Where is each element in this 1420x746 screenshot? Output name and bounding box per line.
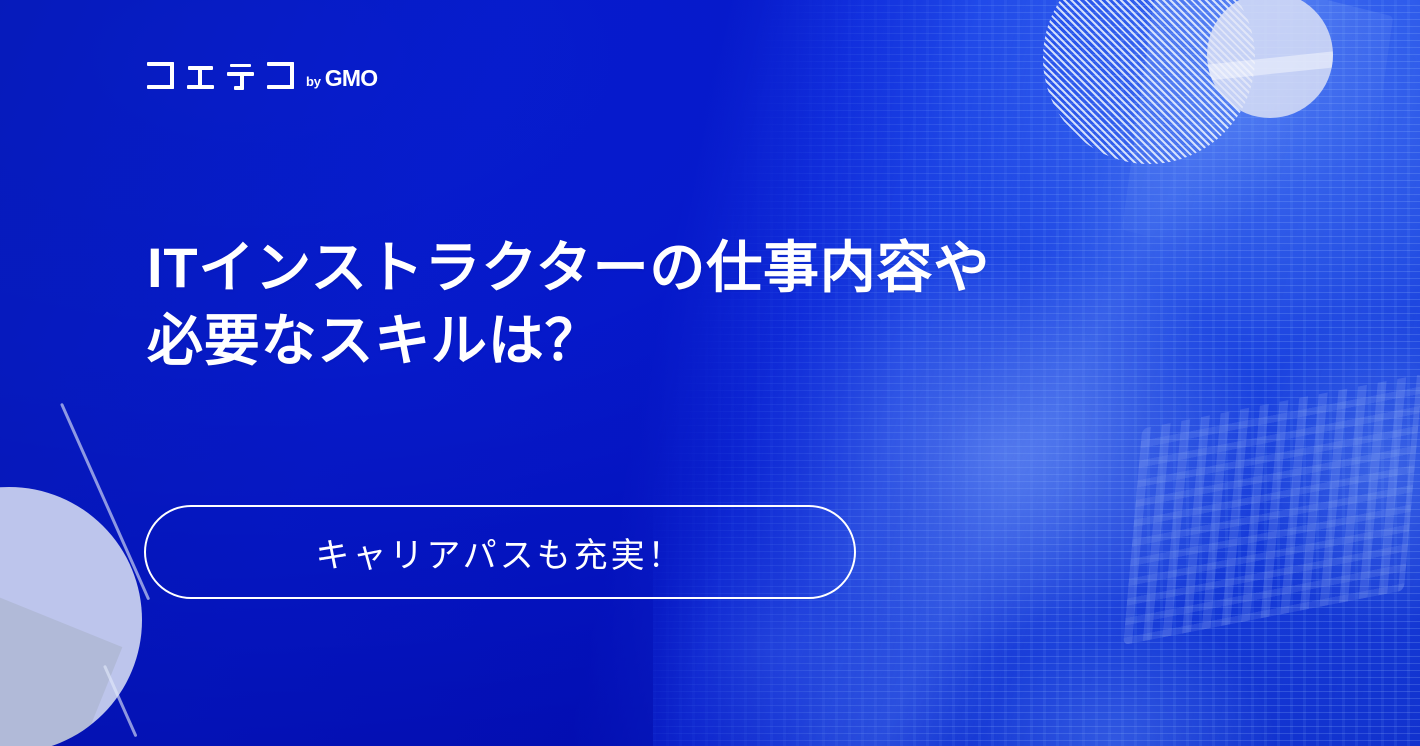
- kana-e-icon: [187, 62, 214, 92]
- kana-ko-2-icon: [267, 62, 294, 92]
- logo-gmo-lockup: by GMO: [306, 67, 377, 92]
- tagline-pill-button[interactable]: キャリアパスも充実！: [144, 505, 856, 599]
- site-logo[interactable]: by GMO: [147, 62, 377, 92]
- tagline-pill-label: キャリアパスも充実！: [315, 528, 684, 577]
- hero-banner: by GMO ITインストラクターの仕事内容や 必要なスキルは？ キャリアパスも…: [0, 0, 1420, 746]
- logo-gmo-label: GMO: [325, 67, 378, 90]
- logo-kana-mark: [147, 62, 294, 92]
- page-title: ITインストラクターの仕事内容や 必要なスキルは？: [147, 232, 1127, 378]
- kana-ko-1-icon: [147, 62, 174, 92]
- kana-te-icon: [227, 62, 254, 92]
- logo-by-label: by: [306, 74, 321, 89]
